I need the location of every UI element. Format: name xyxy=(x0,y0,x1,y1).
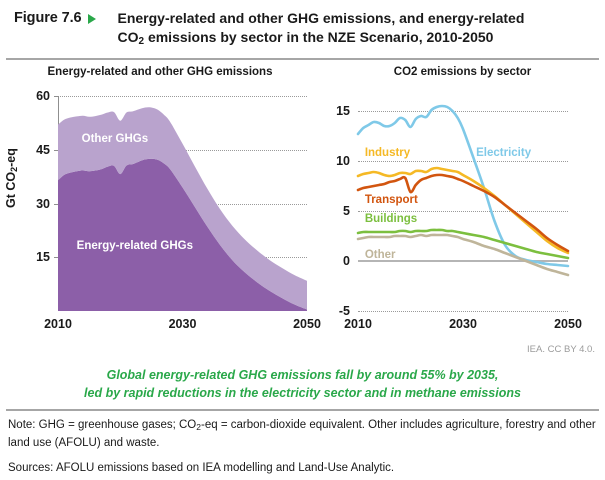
left-plot-area: 15304560201020302050Other GHGsEnergy-rel… xyxy=(58,96,307,311)
right-plot-area: -5051015201020302050ElectricityIndustryT… xyxy=(358,96,568,311)
gridline xyxy=(358,311,568,312)
y-tick-label: 60 xyxy=(36,89,50,103)
left-chart-title: Energy-related and other GHG emissions xyxy=(0,58,320,78)
left-y-axis-title: Gt CO2-eq xyxy=(4,148,19,208)
figure-number: Figure 7.6 xyxy=(14,9,82,26)
sources-text: Sources: AFOLU emissions based on IEA mo… xyxy=(8,461,597,477)
charts-container: Energy-related and other GHG emissions G… xyxy=(0,58,605,320)
y-tick-label: 0 xyxy=(343,254,350,268)
area-series-label: Other GHGs xyxy=(82,133,148,145)
series-label-industry: Industry xyxy=(365,147,410,159)
note-text: Note: GHG = greenhouse gases; CO2-eq = c… xyxy=(8,418,597,451)
iea-attribution: IEA. CC BY 4.0. xyxy=(527,344,595,355)
right-chart-title: CO2 emissions by sector xyxy=(320,58,605,78)
x-tick-label: 2010 xyxy=(44,317,72,331)
x-tick-label: 2030 xyxy=(449,317,477,331)
series-label-other: Other xyxy=(365,249,396,261)
caption-line2: led by rapid reductions in the electrici… xyxy=(0,384,605,402)
x-tick-label: 2050 xyxy=(554,317,582,331)
line-series-electricity xyxy=(358,106,568,266)
y-tick-label: 10 xyxy=(336,154,350,168)
y-tick-label: 30 xyxy=(36,197,50,211)
figure-notes: Note: GHG = greenhouse gases; CO2-eq = c… xyxy=(8,418,597,477)
ghg-area-plot xyxy=(58,96,307,311)
figure-header: Figure 7.6 Energy-related and other GHG … xyxy=(0,0,605,58)
series-label-buildings: Buildings xyxy=(365,213,417,225)
x-tick-label: 2050 xyxy=(293,317,321,331)
series-label-electricity: Electricity xyxy=(476,147,531,159)
figure-caption: Global energy-related GHG emissions fall… xyxy=(0,366,605,402)
figure-title: Energy-related and other GHG emissions, … xyxy=(118,9,525,51)
caption-line1: Global energy-related GHG emissions fall… xyxy=(0,366,605,384)
panel-co2-sector: CO2 emissions by sector -505101520102030… xyxy=(320,58,605,78)
x-tick-label: 2010 xyxy=(344,317,372,331)
panel-ghg-area: Energy-related and other GHG emissions G… xyxy=(0,58,320,78)
y-tick-label: 15 xyxy=(36,250,50,264)
figure-title-line2: CO2 emissions by sector in the NZE Scena… xyxy=(118,28,525,51)
notes-divider xyxy=(6,409,599,411)
triangle-right-icon xyxy=(88,14,96,24)
figure-title-line1: Energy-related and other GHG emissions, … xyxy=(118,9,525,28)
y-tick-label: -5 xyxy=(339,304,350,318)
y-tick-label: 45 xyxy=(36,143,50,157)
y-tick-label: 5 xyxy=(343,204,350,218)
x-tick-label: 2030 xyxy=(169,317,197,331)
series-label-transport: Transport xyxy=(365,194,418,206)
area-series-label: Energy-related GHGs xyxy=(77,240,193,252)
y-tick-label: 15 xyxy=(336,104,350,118)
